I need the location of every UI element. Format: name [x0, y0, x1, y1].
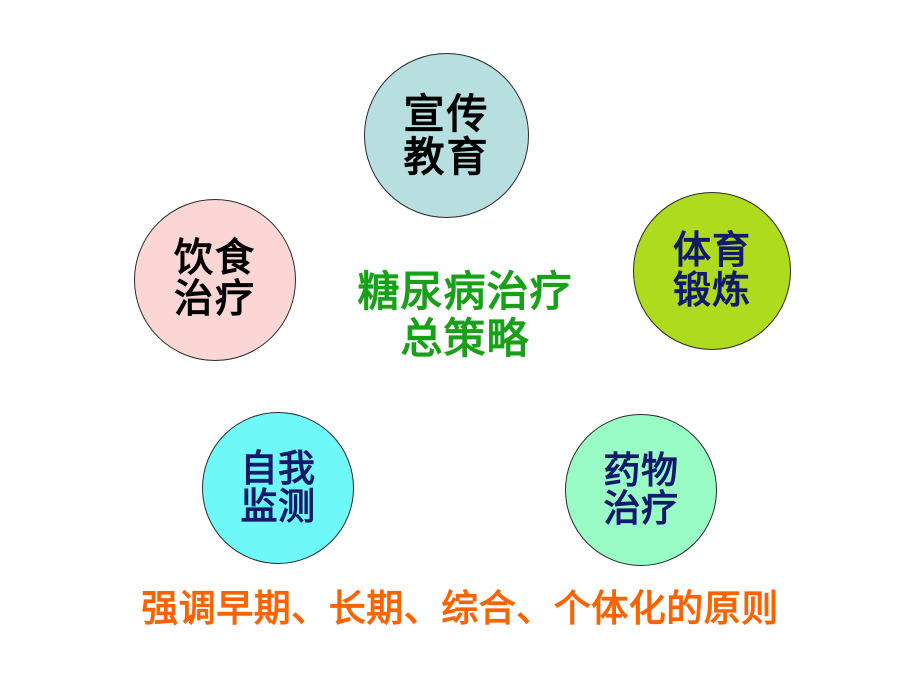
center-title-line2: 总策略	[300, 315, 630, 362]
node-medication-line1: 药物	[604, 452, 679, 490]
node-diet[interactable]: 饮食 治疗	[134, 199, 296, 361]
node-medication-line2: 治疗	[604, 490, 679, 528]
node-medication[interactable]: 药物 治疗	[565, 414, 717, 566]
node-education-line2: 教育	[404, 136, 490, 179]
center-title: 糖尿病治疗 总策略	[300, 268, 630, 362]
node-exercise-line2: 锻炼	[673, 271, 751, 311]
slide-canvas: 宣传 教育 饮食 治疗 体育 锻炼 自我 监测 药物 治疗 糖尿病治疗 总策略 …	[0, 0, 920, 690]
node-monitoring[interactable]: 自我 监测	[202, 412, 354, 564]
node-education-line1: 宣传	[404, 93, 490, 136]
node-monitoring-line1: 自我	[241, 450, 316, 488]
node-diet-line1: 饮食	[174, 239, 256, 280]
center-title-line1: 糖尿病治疗	[300, 268, 630, 315]
node-exercise-line1: 体育	[673, 231, 751, 271]
node-exercise[interactable]: 体育 锻炼	[633, 192, 791, 350]
footer-principle-text: 强调早期、长期、综合、个体化的原则	[0, 578, 920, 632]
node-education[interactable]: 宣传 教育	[364, 53, 529, 218]
node-monitoring-line2: 监测	[241, 488, 316, 526]
node-diet-line2: 治疗	[174, 280, 256, 321]
